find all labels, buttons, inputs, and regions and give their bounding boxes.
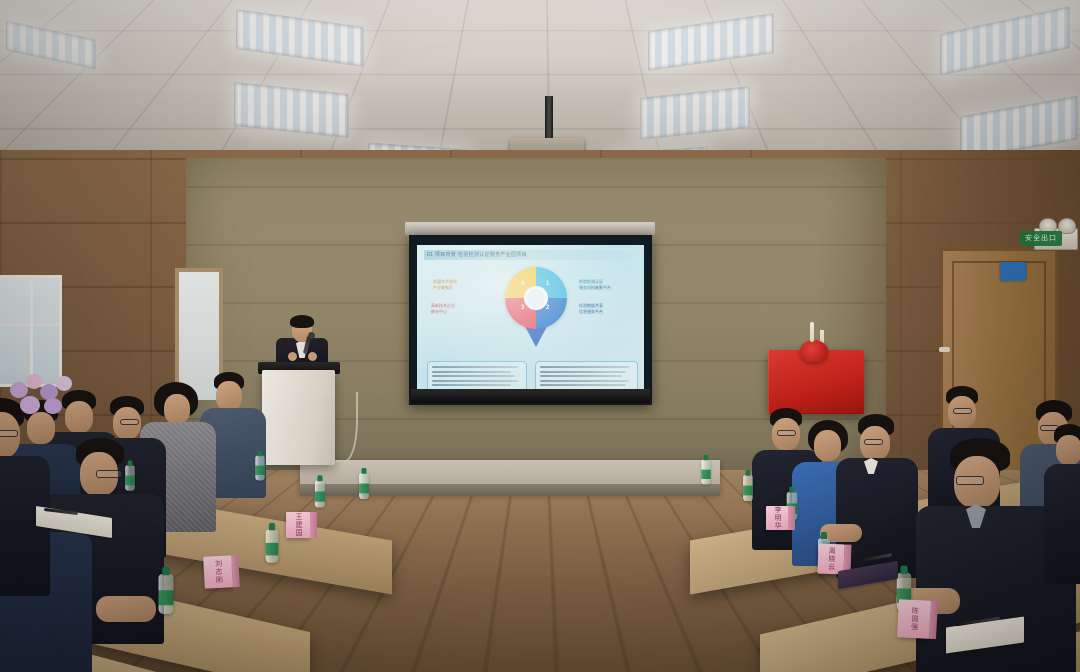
water-bottle[interactable] bbox=[266, 529, 279, 563]
attendee-glasses-icon bbox=[96, 470, 122, 478]
attendee-glasses-icon bbox=[953, 408, 972, 414]
slide-title: 01 项目背景·检验检测认证服务产业园项目 bbox=[427, 251, 527, 258]
quadrant-number-1: 1 bbox=[546, 281, 549, 287]
window-mullion bbox=[0, 323, 59, 326]
name-card-text: 王建国 bbox=[293, 513, 303, 537]
speaker-hair bbox=[290, 315, 314, 328]
name-card-text: 周晓云 bbox=[826, 547, 837, 571]
flower-petal bbox=[26, 374, 42, 389]
flower-petal bbox=[10, 382, 28, 398]
name-card: 王建国 bbox=[286, 512, 310, 538]
slide-caption-q2b: 信息服务平台 bbox=[579, 309, 603, 315]
note-text-line bbox=[540, 384, 626, 386]
name-card-text: 李明华 bbox=[772, 506, 782, 530]
four-quadrant-donut bbox=[505, 267, 567, 329]
attendee-head bbox=[814, 430, 841, 461]
note-text-line bbox=[540, 366, 629, 368]
name-card: 刘志刚 bbox=[203, 555, 233, 588]
slide-quadrant-pin-diagram: 1 2 3 4 bbox=[505, 267, 567, 347]
attendee-glasses-icon bbox=[120, 419, 139, 425]
water-bottle[interactable] bbox=[159, 574, 174, 614]
attendee-glasses-icon bbox=[956, 476, 984, 485]
note-text-line bbox=[432, 375, 515, 377]
water-bottle[interactable] bbox=[255, 456, 264, 481]
projection-screen-case bbox=[405, 222, 655, 235]
note-text-line bbox=[540, 371, 626, 373]
water-bottle[interactable] bbox=[701, 460, 710, 485]
note-text-line bbox=[540, 380, 629, 382]
attendee-head bbox=[164, 394, 190, 424]
flower-petal bbox=[56, 376, 72, 391]
attendee-hands-left bbox=[96, 596, 156, 622]
conference-room-photo: 安全出口 01 项目背景·检验检测认证服务产业园项目 质量技术服务 产业集聚区 … bbox=[0, 0, 1080, 672]
water-bottle[interactable] bbox=[743, 475, 753, 501]
restroom-sign-icon bbox=[1000, 262, 1026, 281]
attendee-head bbox=[216, 381, 242, 411]
quadrant-number-2: 2 bbox=[546, 305, 549, 311]
water-bottle[interactable] bbox=[359, 473, 369, 499]
projector-mount-pole bbox=[545, 96, 553, 140]
slide-note-left bbox=[427, 361, 527, 389]
flower-petal bbox=[20, 396, 40, 414]
microphone-head-icon bbox=[308, 332, 315, 339]
presentation-slide: 01 项目背景·检验检测认证服务产业园项目 质量技术服务 产业集聚区 高新技术企… bbox=[417, 245, 644, 389]
name-card: 陈国强 bbox=[897, 599, 931, 639]
attendee-glasses-icon bbox=[777, 430, 796, 436]
name-card-fold bbox=[310, 512, 317, 538]
red-draped-plaque bbox=[768, 350, 864, 414]
name-card-text: 刘志刚 bbox=[212, 560, 223, 584]
speaker-hand-left bbox=[288, 352, 297, 361]
quadrant-number-3: 3 bbox=[521, 305, 524, 311]
quadrant-number-4: 4 bbox=[521, 281, 524, 287]
water-bottle[interactable] bbox=[125, 465, 135, 491]
attendee-head bbox=[1056, 435, 1080, 465]
podium: QCPAC 质量认证吉祥物 bbox=[262, 370, 335, 465]
name-card-text: 陈国强 bbox=[908, 607, 919, 631]
projection-screen: 01 项目背景·检验检测认证服务产业园项目 质量技术服务 产业集聚区 高新技术企… bbox=[409, 235, 652, 405]
slide-caption-q4b: 产业集聚区 bbox=[433, 285, 453, 291]
attendee-glasses-icon bbox=[0, 430, 18, 437]
slide-caption-q1b: 服务机构集聚平台 bbox=[579, 285, 611, 291]
name-card-fold bbox=[788, 506, 795, 530]
note-text-line bbox=[432, 366, 518, 368]
exit-sign: 安全出口 bbox=[1020, 231, 1062, 246]
note-text-line bbox=[432, 380, 518, 382]
note-text-line bbox=[540, 375, 622, 377]
slide-caption-q3b: 孵化中心 bbox=[431, 309, 447, 315]
door-handle-icon[interactable] bbox=[939, 347, 950, 352]
note-text-line bbox=[432, 384, 511, 386]
red-ribbon-flower-icon bbox=[800, 340, 828, 362]
slide-note-right bbox=[535, 361, 638, 389]
name-card: 李明华 bbox=[766, 506, 788, 530]
water-bottle[interactable] bbox=[315, 480, 325, 507]
attendee-torso bbox=[1044, 464, 1080, 584]
screen-bottom-bar bbox=[411, 389, 650, 403]
attendee-glasses-icon bbox=[864, 439, 883, 445]
flower-bouquet bbox=[6, 368, 86, 418]
note-text-line bbox=[432, 371, 511, 373]
speaker-hand-right bbox=[308, 352, 317, 361]
flower-petal bbox=[44, 398, 62, 414]
